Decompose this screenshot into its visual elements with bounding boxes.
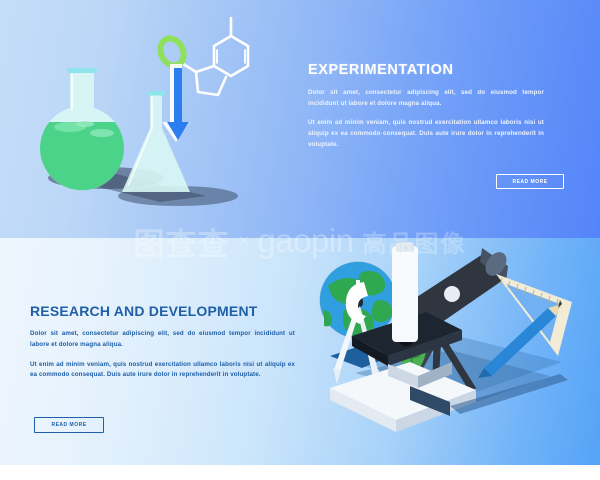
chemistry-lab-illustration xyxy=(10,0,310,238)
page-title: EXPERIMENTATION xyxy=(308,63,544,79)
paragraph-2: Ut enim ad minim veniam, quis nostrud ex… xyxy=(308,118,544,150)
paragraph-1: Dolor sit amet, consectetur adipiscing e… xyxy=(308,88,544,109)
triangle-ruler-icon xyxy=(496,274,572,356)
research-text-block: RESEARCH AND DEVELOPMENT Dolor sit amet,… xyxy=(30,304,295,390)
banner-set: EXPERIMENTATION Dolor sit amet, consecte… xyxy=(0,0,600,480)
down-arrow-icon xyxy=(162,64,190,142)
banner-research-and-development: RESEARCH AND DEVELOPMENT Dolor sit amet,… xyxy=(0,238,600,465)
read-more-button-bottom[interactable]: READ MORE xyxy=(34,417,104,433)
paragraph-2: Ut enim ad minim veniam, quis nostrud ex… xyxy=(30,360,295,381)
page-title: RESEARCH AND DEVELOPMENT xyxy=(30,304,295,319)
paragraph-1: Dolor sit amet, consectetur adipiscing e… xyxy=(30,329,295,350)
read-more-button-top[interactable]: READ MORE xyxy=(496,174,564,189)
experimentation-text-block: EXPERIMENTATION Dolor sit amet, consecte… xyxy=(308,63,544,150)
banner-experimentation: EXPERIMENTATION Dolor sit amet, consecte… xyxy=(0,0,600,238)
molecule-structure xyxy=(180,18,248,95)
science-equipment-illustration xyxy=(300,238,600,465)
